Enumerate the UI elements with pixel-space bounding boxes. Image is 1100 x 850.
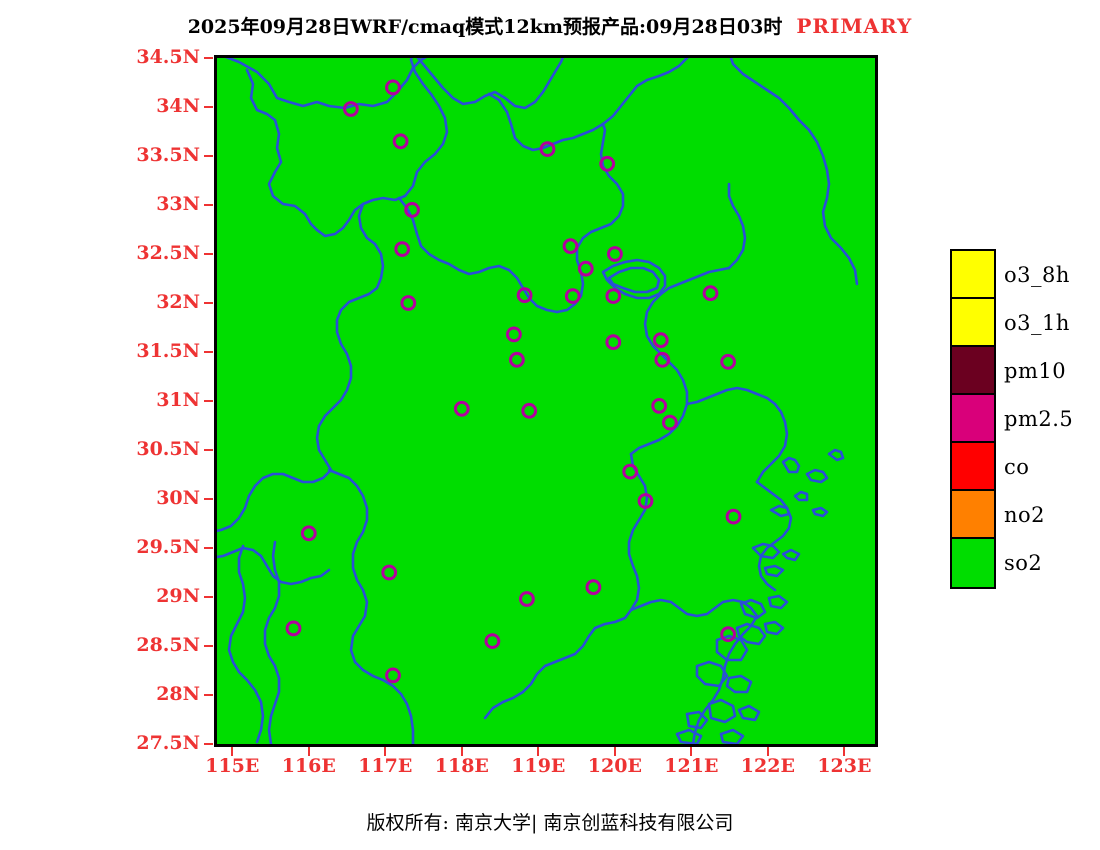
legend-item-label: so2 (1004, 551, 1042, 575)
y-axis-tick-mark (204, 743, 213, 745)
legend-item-label: o3_1h (1004, 311, 1070, 335)
y-axis-tick-mark (204, 302, 213, 304)
x-axis-tick-mark (461, 747, 463, 756)
y-axis-tick-label: 33N (156, 193, 200, 215)
legend-color-swatch (952, 347, 994, 395)
x-axis-tick-label: 117E (345, 755, 425, 777)
y-axis-tick-label: 33.5N (136, 144, 200, 166)
y-axis-tick-mark (204, 498, 213, 500)
copyright-footer: 版权所有: 南京大学| 南京创蓝科技有限公司 (0, 808, 1100, 835)
x-axis-tick-mark (690, 747, 692, 756)
legend-item-label: no2 (1004, 503, 1045, 527)
legend-item-o3-1h[interactable]: o3_1h (952, 299, 994, 347)
legend-color-swatch (952, 443, 994, 491)
x-axis-tick-mark (537, 747, 539, 756)
legend-item-label: pm2.5 (1004, 407, 1073, 431)
legend-color-swatch (952, 395, 994, 443)
y-axis-tick-mark (204, 204, 213, 206)
x-axis-tick-label: 116E (269, 755, 349, 777)
y-axis-tick-label: 28N (156, 683, 200, 705)
legend-item-pm10[interactable]: pm10 (952, 347, 994, 395)
y-axis-tick-label: 32N (156, 291, 200, 313)
x-axis-tick-mark (384, 747, 386, 756)
y-axis-tick-label: 31.5N (136, 340, 200, 362)
x-axis-tick-label: 123E (804, 755, 884, 777)
x-axis-tick-mark (308, 747, 310, 756)
y-axis-tick-label: 27.5N (136, 732, 200, 754)
y-axis-tick-mark (204, 351, 213, 353)
legend-item-no2[interactable]: no2 (952, 491, 994, 539)
legend-item-so2[interactable]: so2 (952, 539, 994, 587)
pollutant-legend[interactable]: o3_8ho3_1hpm10pm2.5cono2so2 (950, 249, 996, 589)
y-axis-tick-label: 29.5N (136, 536, 200, 558)
legend-item-co[interactable]: co (952, 443, 994, 491)
y-axis-tick-label: 30.5N (136, 438, 200, 460)
legend-color-swatch (952, 299, 994, 347)
y-axis-tick-mark (204, 449, 213, 451)
y-axis-tick-mark (204, 645, 213, 647)
x-axis-tick-label: 120E (575, 755, 655, 777)
y-axis-tick-label: 28.5N (136, 634, 200, 656)
y-axis-tick-label: 32.5N (136, 242, 200, 264)
y-axis-tick-mark (204, 106, 213, 108)
y-axis-tick-mark (204, 253, 213, 255)
map-background-fill (217, 58, 875, 744)
x-axis-tick-mark (843, 747, 845, 756)
legend-item-pm2-5[interactable]: pm2.5 (952, 395, 994, 443)
x-axis-tick-mark (231, 747, 233, 756)
legend-item-label: pm10 (1004, 359, 1066, 383)
x-axis-tick-label: 121E (651, 755, 731, 777)
chart-title-main: 2025年09月28日WRF/cmaq模式12km预报产品:09月28日03时 (188, 16, 783, 38)
map-plot-area[interactable] (214, 55, 878, 747)
y-axis-tick-label: 34N (156, 95, 200, 117)
y-axis-tick-mark (204, 596, 213, 598)
x-axis-tick-mark (767, 747, 769, 756)
x-axis-tick-label: 115E (192, 755, 272, 777)
y-axis-tick-mark (204, 400, 213, 402)
legend-item-o3-8h[interactable]: o3_8h (952, 251, 994, 299)
x-axis-tick-label: 118E (422, 755, 502, 777)
y-axis-tick-label: 29N (156, 585, 200, 607)
legend-item-label: co (1004, 455, 1029, 479)
legend-color-swatch (952, 491, 994, 539)
y-axis-tick-mark (204, 57, 213, 59)
x-axis-tick-label: 119E (498, 755, 578, 777)
y-axis-tick-label: 34.5N (136, 46, 200, 68)
y-axis-tick-label: 30N (156, 487, 200, 509)
legend-item-label: o3_8h (1004, 263, 1070, 287)
y-axis-tick-mark (204, 155, 213, 157)
legend-color-swatch (952, 251, 994, 299)
y-axis-tick-mark (204, 694, 213, 696)
chart-title-primary-badge: PRIMARY (782, 14, 912, 38)
chart-title: 2025年09月28日WRF/cmaq模式12km预报产品:09月28日03时P… (0, 12, 1100, 39)
map-vector-layer (217, 58, 875, 744)
legend-color-swatch (952, 539, 994, 587)
y-axis-tick-mark (204, 547, 213, 549)
y-axis-tick-label: 31N (156, 389, 200, 411)
x-axis-tick-label: 122E (728, 755, 808, 777)
x-axis-tick-mark (614, 747, 616, 756)
